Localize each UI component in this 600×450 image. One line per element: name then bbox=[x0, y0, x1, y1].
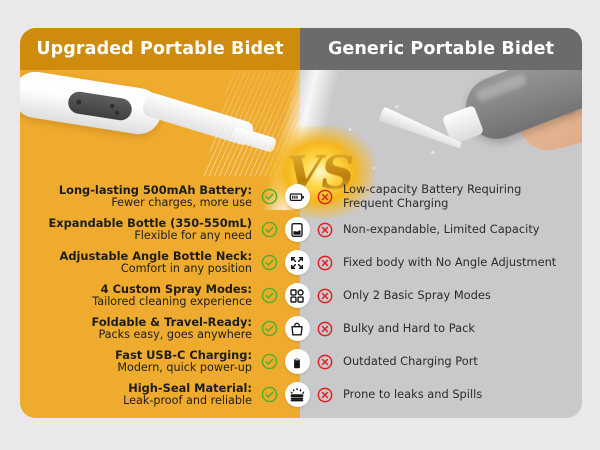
pro-subtitle: Modern, quick power-up bbox=[20, 362, 252, 375]
pro-feature-3: Adjustable Angle Bottle Neck: Comfort in… bbox=[20, 250, 258, 276]
pro-subtitle: Fewer charges, more use bbox=[20, 197, 252, 210]
table-row: High-Seal Material: Leak-proof and relia… bbox=[20, 378, 582, 411]
spray-modes-grid-icon bbox=[285, 283, 310, 308]
pro-feature-6: Fast USB-C Charging: Modern, quick power… bbox=[20, 349, 258, 375]
comparison-card: Upgraded Portable Bidet Generic Portable… bbox=[20, 28, 582, 418]
pro-subtitle: Leak-proof and reliable bbox=[20, 395, 252, 408]
pro-feature-4: 4 Custom Spray Modes: Tailored cleaning … bbox=[20, 283, 258, 309]
cross-circle-icon bbox=[314, 387, 336, 403]
con-line-1: Fixed body with No Angle Adjustment bbox=[343, 255, 556, 269]
pro-feature-1: Long-lasting 500mAh Battery: Fewer charg… bbox=[20, 184, 258, 210]
table-row: Long-lasting 500mAh Battery: Fewer charg… bbox=[20, 180, 582, 213]
table-row: Fast USB-C Charging: Modern, quick power… bbox=[20, 345, 582, 378]
pro-feature-7: High-Seal Material: Leak-proof and relia… bbox=[20, 382, 258, 408]
con-line-1: Low-capacity Battery Requiring bbox=[343, 182, 521, 196]
pro-title: Fast USB-C Charging: bbox=[20, 349, 252, 362]
con-line-1: Only 2 Basic Spray Modes bbox=[343, 288, 491, 302]
pro-title: 4 Custom Spray Modes: bbox=[20, 283, 252, 296]
check-circle-icon bbox=[258, 254, 280, 271]
con-feature-1: Low-capacity Battery Requiring Frequent … bbox=[336, 183, 582, 211]
comparison-header: Upgraded Portable Bidet Generic Portable… bbox=[20, 28, 582, 70]
travel-bag-icon bbox=[285, 316, 310, 341]
expandable-bottle-icon bbox=[285, 217, 310, 242]
con-line-1: Non-expandable, Limited Capacity bbox=[343, 222, 540, 236]
cross-circle-icon bbox=[314, 321, 336, 337]
pro-title: Expandable Bottle (350-550mL) bbox=[20, 217, 252, 230]
pro-title: Foldable & Travel-Ready: bbox=[20, 316, 252, 329]
cross-circle-icon bbox=[314, 288, 336, 304]
table-row: Adjustable Angle Bottle Neck: Comfort in… bbox=[20, 246, 582, 279]
con-line-1: Bulky and Hard to Pack bbox=[343, 321, 475, 335]
header-tab-generic: Generic Portable Bidet bbox=[300, 28, 582, 70]
table-row: Foldable & Travel-Ready: Packs easy, goe… bbox=[20, 312, 582, 345]
feature-icon-slot bbox=[280, 349, 314, 374]
con-feature-3: Fixed body with No Angle Adjustment bbox=[336, 256, 582, 270]
header-right-title: Generic Portable Bidet bbox=[328, 39, 554, 59]
feature-icon-slot bbox=[280, 316, 314, 341]
pro-feature-5: Foldable & Travel-Ready: Packs easy, goe… bbox=[20, 316, 258, 342]
con-feature-4: Only 2 Basic Spray Modes bbox=[336, 289, 582, 303]
con-line-1: Outdated Charging Port bbox=[343, 354, 478, 368]
feature-icon-slot bbox=[280, 283, 314, 308]
usb-plug-icon bbox=[285, 349, 310, 374]
pro-title: High-Seal Material: bbox=[20, 382, 252, 395]
comparison-rows: Long-lasting 500mAh Battery: Fewer charg… bbox=[20, 180, 582, 411]
header-left-title: Upgraded Portable Bidet bbox=[36, 39, 283, 59]
pro-subtitle: Flexible for any need bbox=[20, 230, 252, 243]
con-line-2: Frequent Charging bbox=[343, 197, 582, 211]
header-tab-upgraded: Upgraded Portable Bidet bbox=[20, 28, 300, 70]
con-feature-6: Outdated Charging Port bbox=[336, 355, 582, 369]
cross-circle-icon bbox=[314, 189, 336, 205]
con-feature-2: Non-expandable, Limited Capacity bbox=[336, 223, 582, 237]
angle-arrows-icon bbox=[285, 250, 310, 275]
battery-icon bbox=[285, 184, 310, 209]
feature-icon-slot bbox=[280, 250, 314, 275]
pro-title: Long-lasting 500mAh Battery: bbox=[20, 184, 252, 197]
check-circle-icon bbox=[258, 287, 280, 304]
feature-icon-slot bbox=[280, 217, 314, 242]
pro-subtitle: Packs easy, goes anywhere bbox=[20, 329, 252, 342]
check-circle-icon bbox=[258, 221, 280, 238]
check-circle-icon bbox=[258, 188, 280, 205]
pro-title: Adjustable Angle Bottle Neck: bbox=[20, 250, 252, 263]
cross-circle-icon bbox=[314, 255, 336, 271]
pro-subtitle: Tailored cleaning experience bbox=[20, 296, 252, 309]
cross-circle-icon bbox=[314, 354, 336, 370]
feature-icon-slot bbox=[280, 382, 314, 407]
check-circle-icon bbox=[258, 386, 280, 403]
check-circle-icon bbox=[258, 353, 280, 370]
con-line-1: Prone to leaks and Spills bbox=[343, 387, 482, 401]
con-feature-7: Prone to leaks and Spills bbox=[336, 388, 582, 402]
check-circle-icon bbox=[258, 320, 280, 337]
con-feature-5: Bulky and Hard to Pack bbox=[336, 322, 582, 336]
table-row: Expandable Bottle (350-550mL) Flexible f… bbox=[20, 213, 582, 246]
pro-feature-2: Expandable Bottle (350-550mL) Flexible f… bbox=[20, 217, 258, 243]
seal-droplets-icon bbox=[285, 382, 310, 407]
cross-circle-icon bbox=[314, 222, 336, 238]
feature-icon-slot bbox=[280, 184, 314, 209]
table-row: 4 Custom Spray Modes: Tailored cleaning … bbox=[20, 279, 582, 312]
pro-subtitle: Comfort in any position bbox=[20, 263, 252, 276]
